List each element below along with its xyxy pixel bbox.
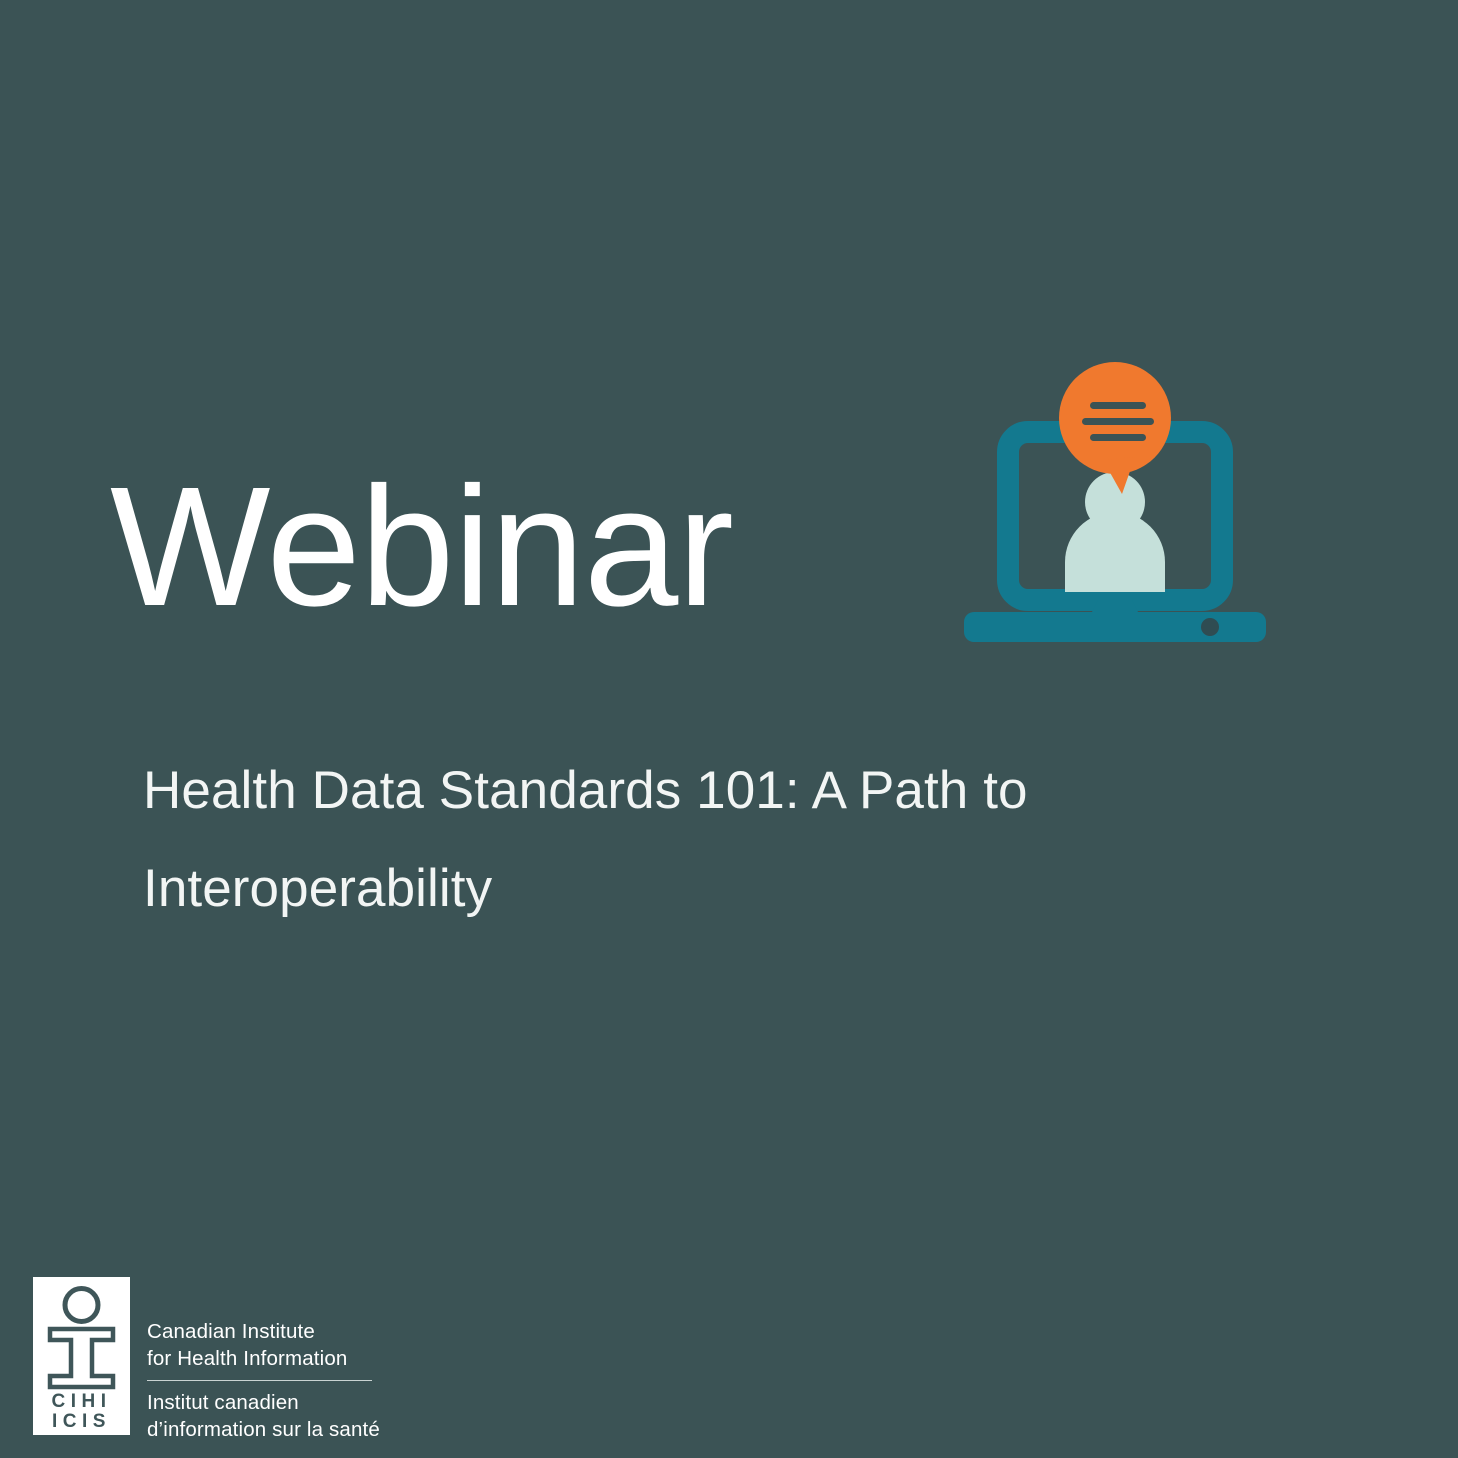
bubble-line-1	[1090, 402, 1146, 409]
logo-name-en-line1: Canadian Institute	[147, 1319, 380, 1346]
cihi-logo-wordmark: Canadian Institute for Health Informatio…	[147, 1277, 380, 1444]
laptop-webinar-icon	[960, 360, 1270, 650]
laptop-base-shape	[964, 600, 1266, 642]
logo-name-fr-line2: d’information sur la santé	[147, 1417, 380, 1444]
cihi-logo: CIHI ICIS Canadian Institute for Health …	[33, 1277, 380, 1444]
logo-acronym-en: CIHI	[52, 1391, 112, 1412]
logo-name-fr-line1: Institut canadien	[147, 1390, 380, 1417]
logo-name-en-line2: for Health Information	[147, 1346, 380, 1373]
logo-acronym-fr: ICIS	[52, 1411, 111, 1432]
logo-divider	[147, 1380, 372, 1381]
cihi-logo-mark: CIHI ICIS	[33, 1277, 130, 1435]
bubble-line-3	[1090, 434, 1146, 441]
logo-ibeam-icon	[50, 1329, 113, 1387]
bubble-line-2	[1082, 418, 1154, 425]
person-body-shape	[1065, 512, 1165, 592]
laptop-indicator-dot	[1201, 618, 1219, 636]
logo-head-icon	[65, 1289, 98, 1322]
slide-subtitle: Health Data Standards 101: A Path to Int…	[143, 742, 1123, 938]
page-title: Webinar	[110, 462, 733, 632]
webinar-slide: Webinar Health Data Standards 101: A Pat…	[0, 0, 1458, 1458]
